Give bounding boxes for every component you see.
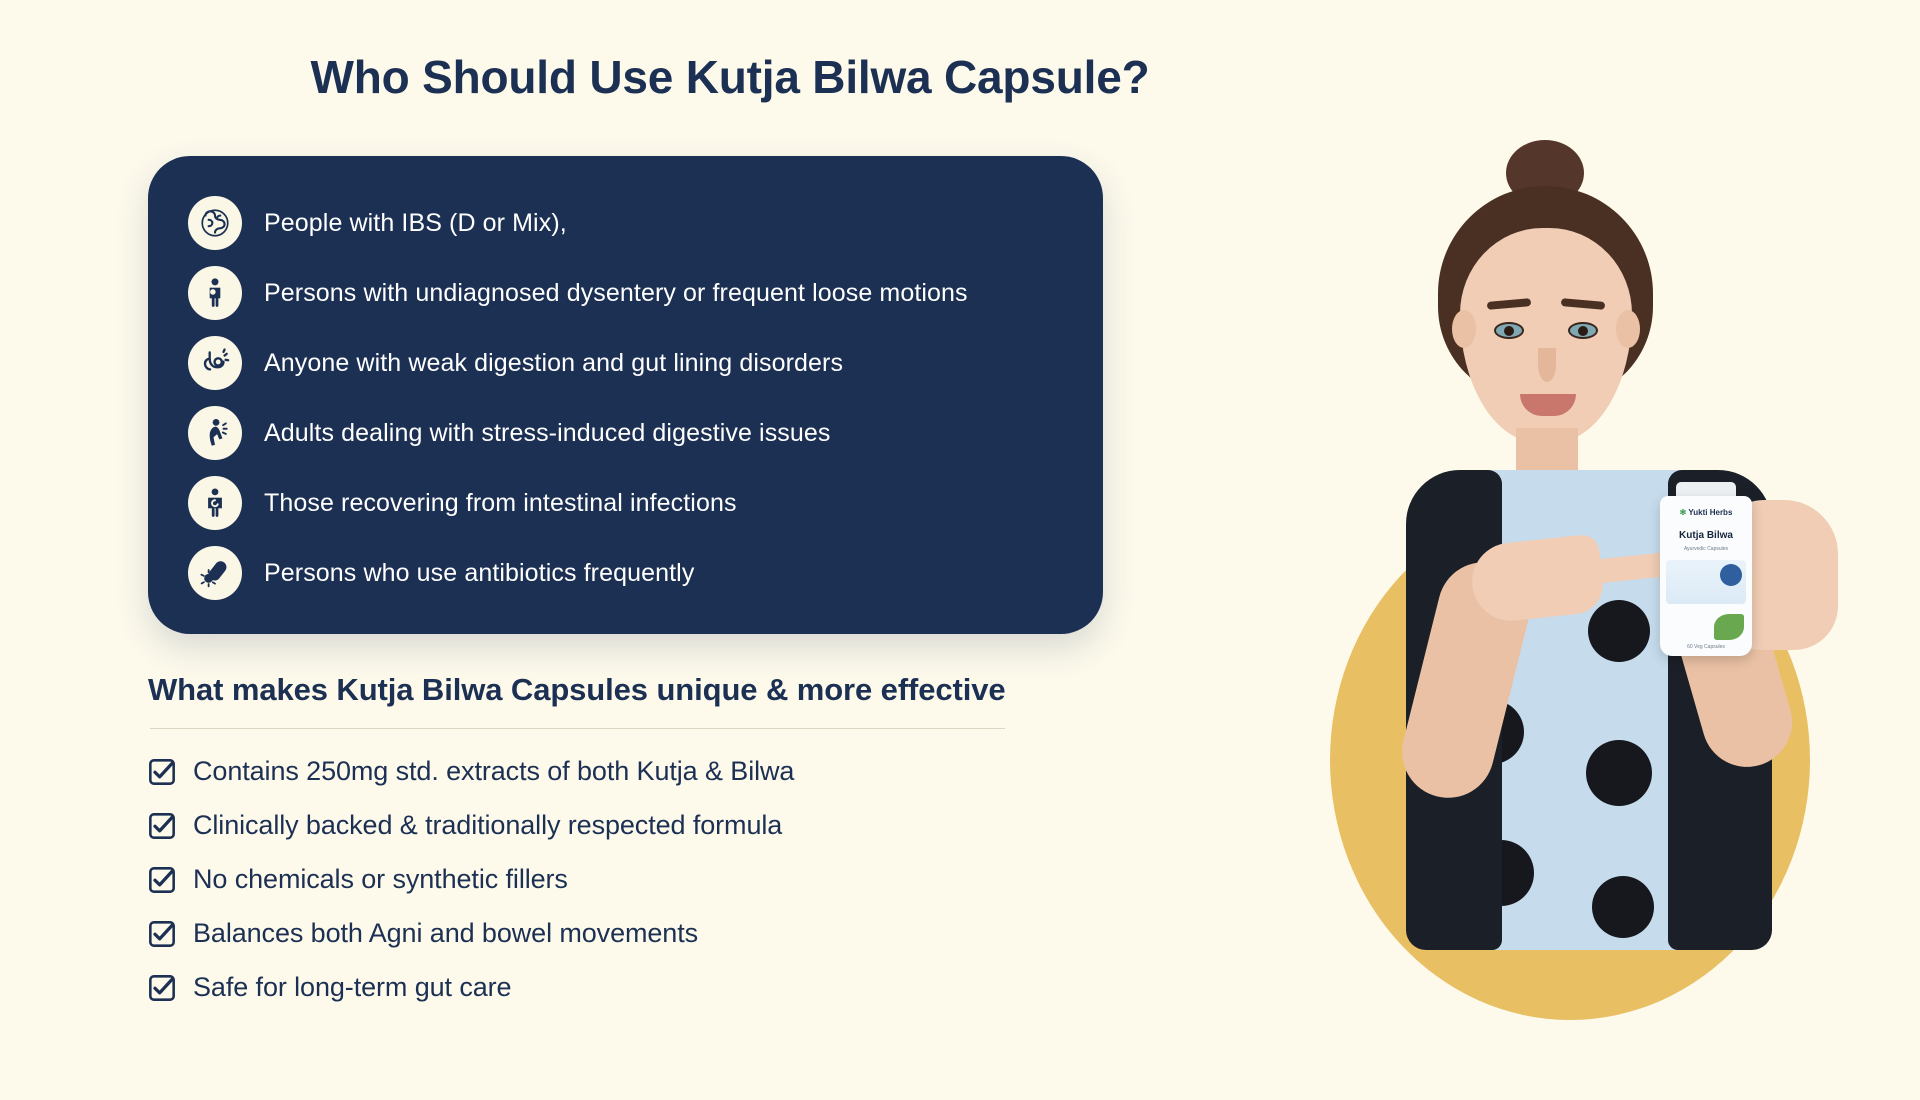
- list-item-label: People with IBS (D or Mix),: [264, 209, 567, 238]
- herb-illustration: [1714, 614, 1744, 640]
- bottle-footer-label: 60 Veg Capsules: [1660, 644, 1752, 650]
- list-item: Anyone with weak digestion and gut linin…: [188, 334, 1063, 392]
- list-item-label: Anyone with weak digestion and gut linin…: [264, 349, 843, 378]
- checkbox-checked-icon: [148, 812, 176, 840]
- recovering-person-icon: [188, 476, 242, 530]
- benefits-list: Contains 250mg std. extracts of both Kut…: [148, 756, 1048, 1003]
- checkbox-checked-icon: [148, 758, 176, 786]
- ear-right: [1616, 310, 1640, 348]
- model-illustration: ✻ Yukti Herbs Kutja Bilwa Ayurvedic Caps…: [1120, 0, 1920, 1100]
- list-item: Persons with undiagnosed dysentery or fr…: [188, 264, 1063, 322]
- bottle-product-name: Kutja Bilwa: [1660, 530, 1752, 541]
- list-item-label: Contains 250mg std. extracts of both Kut…: [193, 756, 794, 787]
- list-item: No chemicals or synthetic fillers: [148, 864, 1048, 895]
- list-item: Contains 250mg std. extracts of both Kut…: [148, 756, 1048, 787]
- list-item-label: Balances both Agni and bowel movements: [193, 918, 698, 949]
- pupil-left: [1504, 326, 1514, 336]
- stressed-person-icon: [188, 406, 242, 460]
- page-title-lead: Who Should Use: [311, 51, 686, 103]
- page-title-trail: Capsule?: [931, 51, 1149, 103]
- model-photo: ✻ Yukti Herbs Kutja Bilwa Ayurvedic Caps…: [1120, 0, 1920, 1100]
- list-item-label: Safe for long-term gut care: [193, 972, 511, 1003]
- bottle-brand-label: Yukti Herbs: [1688, 508, 1732, 517]
- intestine-icon: [188, 196, 242, 250]
- shirt-dot: [1588, 600, 1650, 662]
- leaf-icon: ✻: [1680, 508, 1687, 517]
- shirt-dot: [1592, 876, 1654, 938]
- bottle-brand: ✻ Yukti Herbs: [1660, 508, 1752, 517]
- person-stomach-pain-icon: [188, 266, 242, 320]
- ear-left: [1452, 310, 1476, 348]
- product-bottle: ✻ Yukti Herbs Kutja Bilwa Ayurvedic Caps…: [1660, 496, 1752, 656]
- list-item: People with IBS (D or Mix),: [188, 194, 1063, 252]
- bottle-badge: [1720, 564, 1742, 586]
- list-item: Those recovering from intestinal infecti…: [188, 474, 1063, 532]
- list-item: Adults dealing with stress-induced diges…: [188, 404, 1063, 462]
- checkbox-checked-icon: [148, 866, 176, 894]
- section-divider: [150, 728, 1005, 729]
- list-item-label: Persons who use antibiotics frequently: [264, 559, 694, 588]
- list-item-label: Adults dealing with stress-induced diges…: [264, 419, 831, 448]
- list-item: Clinically backed & traditionally respec…: [148, 810, 1048, 841]
- list-item: Safe for long-term gut care: [148, 972, 1048, 1003]
- list-item-label: Persons with undiagnosed dysentery or fr…: [264, 279, 968, 308]
- audience-card: People with IBS (D or Mix), Persons with…: [148, 156, 1103, 634]
- nose: [1538, 348, 1556, 382]
- page-title-product: Kutja Bilwa: [686, 51, 932, 103]
- list-item-label: Clinically backed & traditionally respec…: [193, 810, 782, 841]
- list-item-label: Those recovering from intestinal infecti…: [264, 489, 737, 518]
- antibiotic-pill-icon: [188, 546, 242, 600]
- bottle-subtitle: Ayurvedic Capsules: [1660, 546, 1752, 552]
- stomach-icon: [188, 336, 242, 390]
- promo-infographic: Who Should Use Kutja Bilwa Capsule? Peop…: [0, 0, 1920, 1100]
- shirt-dot: [1586, 740, 1652, 806]
- list-item: Balances both Agni and bowel movements: [148, 918, 1048, 949]
- list-item: Persons who use antibiotics frequently: [188, 544, 1063, 602]
- benefits-heading: What makes Kutja Bilwa Capsules unique &…: [148, 672, 1108, 708]
- checkbox-checked-icon: [148, 974, 176, 1002]
- list-item-label: No chemicals or synthetic fillers: [193, 864, 568, 895]
- checkbox-checked-icon: [148, 920, 176, 948]
- pupil-right: [1578, 326, 1588, 336]
